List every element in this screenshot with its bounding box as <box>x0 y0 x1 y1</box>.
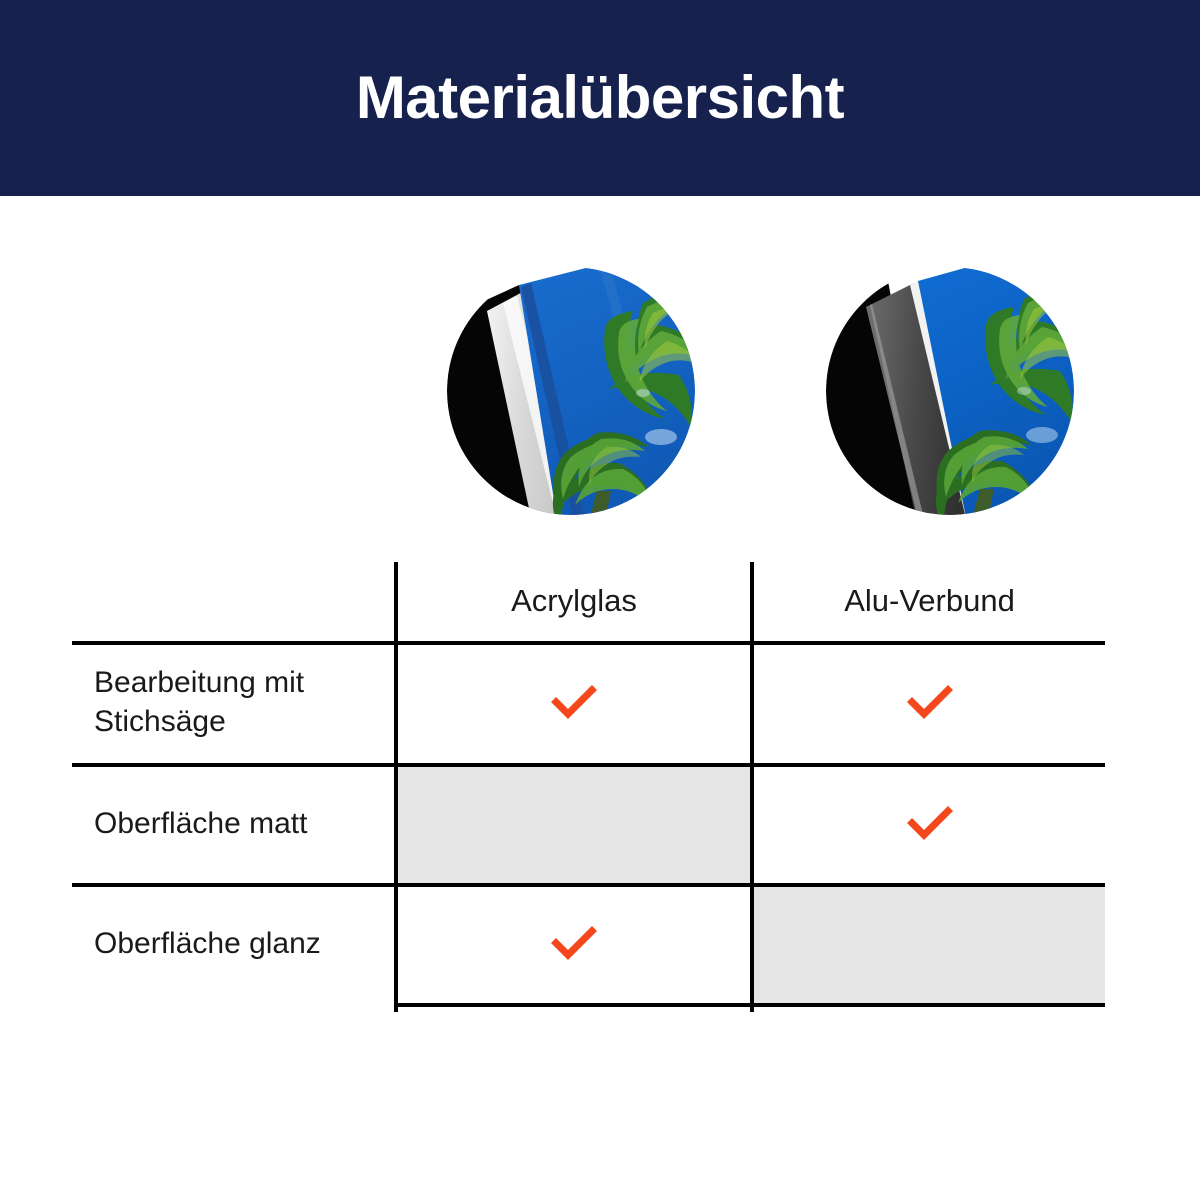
product-thumbnail-aluverbund <box>826 267 1074 515</box>
material-comparison-table: Acrylglas Alu-Verbund Bearbeitung mit St… <box>72 560 1105 1012</box>
cell-aluverbund-oberflaeche-matt <box>754 763 1105 883</box>
row-label-oberflaeche-matt: Oberfläche matt <box>94 763 394 883</box>
cell-aluverbund-bearbeitung-mit-stichsaege <box>754 641 1105 763</box>
checkmark-icon <box>903 801 957 845</box>
column-header-acrylglas: Acrylglas <box>398 560 750 641</box>
row-label-oberflaeche-glanz: Oberfläche glanz <box>94 883 394 1003</box>
checkmark-icon <box>547 680 601 724</box>
cell-acrylglas-oberflaeche-glanz <box>398 883 750 1003</box>
page-title: Materialübersicht <box>0 0 1200 196</box>
cell-aluverbund-oberflaeche-glanz <box>754 883 1105 1003</box>
row-label-bearbeitung-mit-stichsaege: Bearbeitung mit Stichsäge <box>94 641 394 763</box>
checkmark-icon <box>547 921 601 965</box>
checkmark-icon <box>903 680 957 724</box>
header-bar: Materialübersicht <box>0 0 1200 196</box>
material-overview-page: Materialübersicht <box>0 0 1200 1200</box>
column-header-aluverbund: Alu-Verbund <box>754 560 1105 641</box>
acrylglas-sample-image <box>447 267 695 515</box>
cell-acrylglas-bearbeitung-mit-stichsaege <box>398 641 750 763</box>
aluverbund-sample-image <box>826 267 1074 515</box>
product-thumbnail-acrylglas <box>447 267 695 515</box>
cell-acrylglas-oberflaeche-matt <box>398 763 750 883</box>
